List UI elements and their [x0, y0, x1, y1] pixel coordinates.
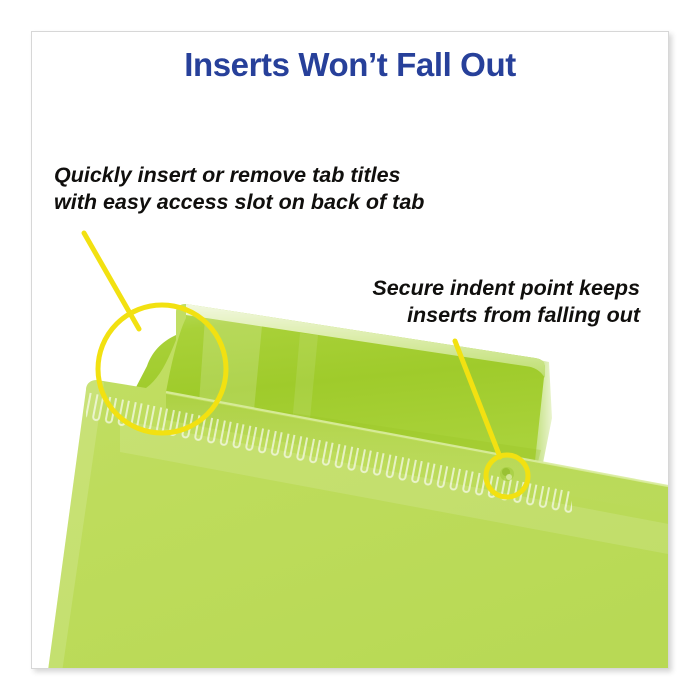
callout-line: with easy access slot on back of tab: [54, 189, 424, 216]
callout-line: inserts from falling out: [372, 302, 640, 329]
callout-text-secure-indent-point: Secure indent point keeps inserts from f…: [372, 275, 640, 329]
callout-line: Secure indent point keeps: [372, 275, 640, 302]
product-feature-image: Inserts Won’t Fall Out Quickly insert or…: [0, 0, 700, 700]
callout-line: Quickly insert or remove tab titles: [54, 162, 424, 189]
product-artwork: [32, 32, 668, 668]
product-photograph: [32, 32, 668, 668]
secure-indent-point-highlight: [506, 474, 512, 480]
image-frame: [31, 31, 669, 669]
page-title: Inserts Won’t Fall Out: [0, 47, 700, 83]
callout-text-easy-access-slot: Quickly insert or remove tab titles with…: [54, 162, 424, 216]
